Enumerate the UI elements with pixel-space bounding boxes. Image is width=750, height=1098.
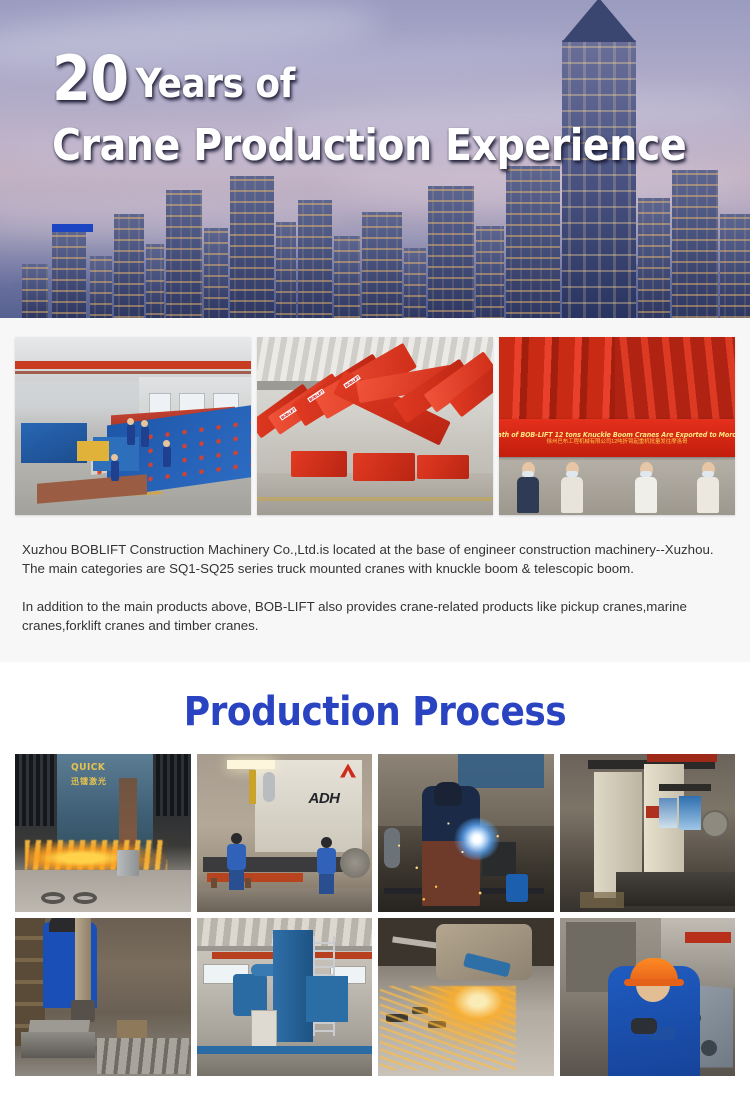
hero-years-label: Years of [129, 61, 295, 107]
worker-figure [163, 447, 171, 467]
face-mask [522, 471, 534, 477]
tower-cap [562, 0, 636, 42]
face-mask [566, 471, 578, 477]
yellow-equipment [77, 441, 109, 461]
factory-workshop-photo[interactable] [15, 337, 251, 515]
person-figure [635, 462, 657, 513]
skyline-building [298, 200, 332, 318]
skyline-building [506, 166, 560, 318]
shop-floor [197, 888, 373, 912]
skyline-building [166, 190, 202, 318]
drilling-photo[interactable] [15, 918, 191, 1076]
intro-paragraph-1: Xuzhou BOBLIFT Construction Machinery Co… [22, 541, 732, 579]
overhead-crane-rail [15, 361, 251, 369]
crane-base [291, 451, 347, 477]
skyline-building [672, 170, 718, 318]
machine-bed [616, 872, 736, 906]
skyline-building [476, 226, 504, 318]
crane-base [353, 453, 415, 481]
red-knuckle-cranes-photo[interactable]: BOB-LIFT BOB-LIFT BOB-LIFT [257, 337, 493, 515]
worker-head [141, 420, 148, 427]
cut-ring-part [73, 892, 97, 904]
wall-poster [679, 796, 701, 830]
wall-poster [659, 798, 677, 828]
production-process-grid: QUICK 迅镭激光 ADH [0, 754, 750, 1076]
skyline-building [204, 228, 228, 318]
machine-guard-right [149, 754, 191, 816]
boring-machine-photo[interactable] [560, 754, 736, 912]
morocco-export-photo[interactable]: A Bath of BOB-LIFT 12 tons Knuckle Boom … [499, 337, 735, 515]
skyline-building [114, 214, 144, 318]
production-process-section: Production Process QUICK 迅镭激光 [0, 662, 750, 1084]
hero-headline-line2: Crane Production Experience [52, 124, 686, 168]
intro-copy: Xuzhou BOBLIFT Construction Machinery Co… [0, 515, 750, 636]
skyline-building [230, 176, 274, 318]
red-crane-beam [647, 754, 717, 762]
skyline-building [334, 236, 360, 318]
person-body [561, 477, 583, 513]
metal-cylinder-part [117, 850, 139, 876]
laser-cutting-photo[interactable]: QUICK 迅镭激光 [15, 754, 191, 912]
grinding-photo[interactable] [378, 918, 554, 1076]
worker-torso [227, 844, 246, 870]
roof-structure [15, 337, 251, 381]
bolt-hole [701, 1040, 717, 1056]
machine-arm [659, 784, 711, 791]
hero-years-number: 20 [52, 42, 129, 115]
face-mask [640, 471, 652, 477]
skyline-building [362, 212, 402, 318]
worker-torso [317, 848, 336, 874]
machined-bars [97, 1038, 189, 1074]
red-sign [685, 932, 731, 943]
production-process-title: Production Process [0, 684, 750, 754]
landing-page: 20Years of Crane Production Experience [0, 0, 750, 1084]
worker-legs [319, 874, 334, 894]
skyline-building [22, 264, 48, 318]
shop-floor [197, 1054, 373, 1076]
red-cranes-backdrop [615, 337, 735, 429]
welding-photo[interactable] [378, 754, 554, 912]
crane-base [417, 455, 469, 479]
hero-banner: 20Years of Crane Production Experience [0, 0, 750, 318]
person-body [697, 477, 719, 513]
skyline-building [90, 256, 112, 318]
assembly-photo[interactable] [560, 918, 736, 1076]
work-glove [631, 1018, 657, 1034]
skyline-building [404, 248, 426, 318]
control-cabinet [251, 1010, 277, 1050]
banner-english-text: A Bath of BOB-LIFT 12 tons Knuckle Boom … [499, 431, 735, 439]
skyline-building [52, 232, 86, 318]
shop-floor [15, 870, 191, 912]
worker-head [231, 833, 242, 844]
hero-headline: 20Years of Crane Production Experience [52, 48, 686, 168]
grinding-sparks [380, 986, 516, 1070]
worker-figure [127, 425, 135, 445]
worker-head [321, 837, 332, 848]
worker-head [163, 440, 170, 447]
press-brake-photo[interactable]: ADH [197, 754, 373, 912]
floor-marking [257, 497, 493, 501]
face-mask [702, 471, 714, 477]
hero-headline-line1: 20Years of [52, 48, 686, 110]
skyline-building [276, 222, 296, 318]
skyline-building [146, 244, 164, 318]
adh-brand-text: ADH [309, 790, 340, 807]
company-intro-section: BOB-LIFT BOB-LIFT BOB-LIFT [0, 318, 750, 662]
worker-figure [111, 461, 119, 481]
cut-ring-part [41, 892, 65, 904]
person-figure [517, 462, 539, 513]
worker-figure [227, 833, 246, 890]
quick-brand-text: QUICK [71, 762, 139, 775]
intro-paragraph-2: In addition to the main products above, … [22, 598, 732, 636]
hydraulic-cylinder [263, 772, 275, 802]
blue-equipment-box [306, 976, 348, 1022]
person-figure [697, 462, 719, 513]
shot-blasting-photo[interactable] [197, 918, 373, 1076]
worker-head [127, 418, 134, 425]
banner-chinese-text: 徐州巴布工程机械有限公司12吨折臂起重机批量发往摩洛哥 [547, 439, 688, 445]
worker-head [111, 454, 118, 461]
cutting-sparks [25, 840, 167, 870]
weld-sparks [378, 754, 554, 912]
ceiling-lamp [227, 760, 275, 769]
export-banner: A Bath of BOB-LIFT 12 tons Knuckle Boom … [499, 419, 735, 457]
worker-figure [317, 837, 336, 894]
person-figure [561, 462, 583, 513]
skyline-building [638, 198, 670, 318]
machine-guard-left [15, 754, 59, 826]
crane-rail-shadow [15, 371, 251, 374]
metal-chips [580, 892, 624, 908]
industrial-fan [340, 848, 370, 878]
person-body [517, 477, 539, 513]
skyline-building [720, 214, 750, 318]
intro-photo-row: BOB-LIFT BOB-LIFT BOB-LIFT [0, 337, 750, 515]
worker-figure [141, 427, 149, 447]
bench-vise [21, 1032, 95, 1058]
accent-underline [52, 224, 93, 232]
worker-legs [229, 870, 244, 890]
person-body [635, 477, 657, 513]
skyline-building [428, 186, 474, 318]
quick-chinese-text: 迅镭激光 [71, 776, 141, 786]
rotary-disc [701, 810, 729, 838]
drill-chuck [71, 1000, 95, 1022]
hoist-chain [249, 770, 256, 804]
